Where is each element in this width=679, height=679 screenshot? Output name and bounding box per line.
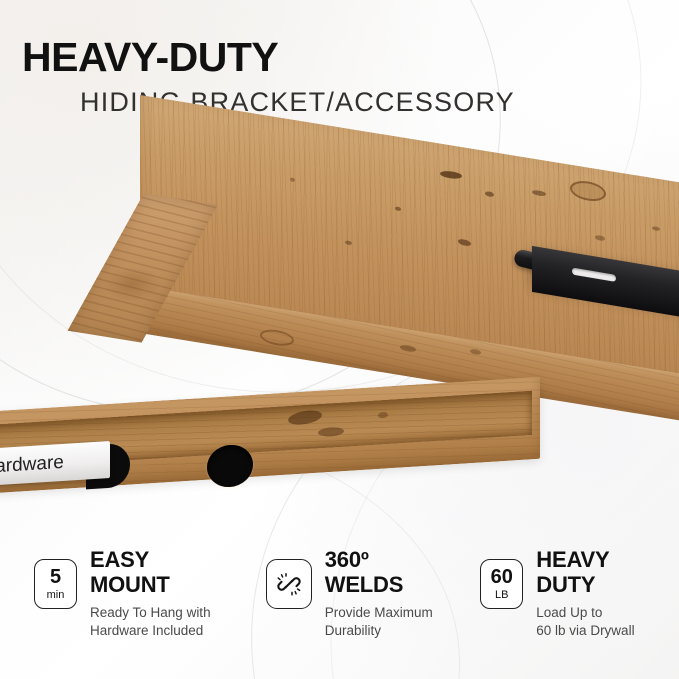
- badge-value: 60: [491, 567, 513, 587]
- bracket-slot-1: [572, 268, 616, 282]
- badge-unit: min: [47, 590, 65, 601]
- installation-label-lower-text: ion hardware: [0, 451, 64, 480]
- feature-desc-line1: Provide Maximum: [325, 604, 433, 622]
- clock-badge-icon: 5 min: [34, 559, 77, 609]
- lower-shelf-underside: ion hardware: [0, 412, 540, 522]
- feature-title-line2: WELDS: [325, 573, 433, 598]
- feature-desc-line2: 60 lb via Drywall: [536, 622, 634, 640]
- chain-link-weld-icon: [266, 559, 312, 609]
- feature-desc-line2: Durability: [325, 622, 433, 640]
- page-title: HEAVY-DUTY: [0, 36, 679, 79]
- feature-desc-line1: Load Up to: [536, 604, 634, 622]
- feature-desc-line2: Hardware Included: [90, 622, 211, 640]
- feature-desc-line1: Ready To Hang with: [90, 604, 211, 622]
- feature-heavy-duty: 60 LB HEAVY DUTY Load Up to 60 lb via Dr…: [468, 548, 679, 668]
- badge-value: 5: [50, 567, 61, 587]
- feature-title-line2: MOUNT: [90, 573, 211, 598]
- feature-strip: 5 min EASY MOUNT Ready To Hang with Hard…: [0, 548, 679, 668]
- feature-text: 360º WELDS Provide Maximum Durability: [312, 548, 433, 640]
- weight-badge-icon: 60 LB: [480, 559, 523, 609]
- hero-shelf-product: Installatio: [140, 95, 679, 385]
- feature-text: HEAVY DUTY Load Up to 60 lb via Drywall: [523, 548, 634, 640]
- feature-title-line1: HEAVY: [536, 548, 634, 573]
- feature-title-line1: 360º: [325, 548, 433, 573]
- product-marketing-image: HEAVY-DUTY HIDING BRACKET/ACCESSORY: [0, 0, 679, 679]
- feature-title-line2: DUTY: [536, 573, 634, 598]
- lower-shelf-keyhole: [207, 444, 253, 489]
- feature-easy-mount: 5 min EASY MOUNT Ready To Hang with Hard…: [0, 548, 250, 668]
- badge-unit: LB: [495, 590, 508, 601]
- feature-text: EASY MOUNT Ready To Hang with Hardware I…: [77, 548, 211, 640]
- feature-360-welds: 360º WELDS Provide Maximum Durability: [250, 548, 469, 668]
- feature-title-line1: EASY: [90, 548, 211, 573]
